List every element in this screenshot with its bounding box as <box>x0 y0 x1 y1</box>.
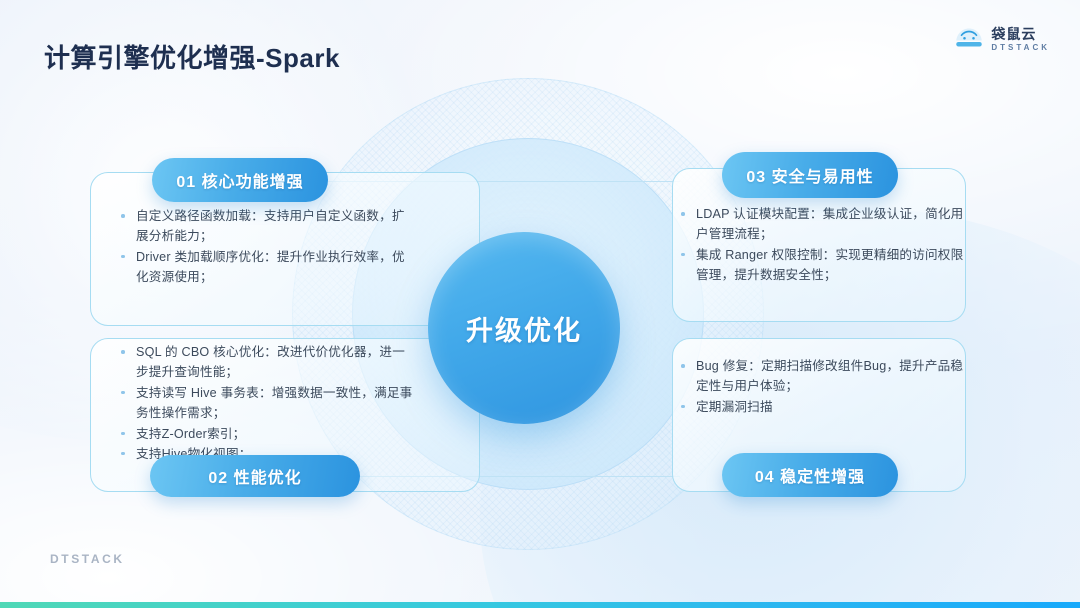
center-circle: 升级优化 <box>428 232 620 424</box>
center-circle-label: 升级优化 <box>466 309 582 348</box>
logo-text-cn: 袋鼠云 <box>991 27 1050 41</box>
list-item: LDAP 认证模块配置：集成企业级认证，简化用户管理流程； <box>676 204 966 245</box>
footer-brand: DTSTACK <box>50 552 125 566</box>
list-item: SQL 的 CBO 核心优化：改进代价优化器，进一步提升查询性能； <box>116 342 416 383</box>
list-item: Bug 修复：定期扫描修改组件Bug，提升产品稳定性与用户体验； <box>676 356 966 397</box>
pill-stability[interactable]: 04 稳定性增强 <box>722 453 898 497</box>
pill-performance[interactable]: 02 性能优化 <box>150 455 360 497</box>
brand-logo: 袋鼠云 DTSTACK <box>954 26 1050 52</box>
page-title: 计算引擎优化增强-Spark <box>44 38 340 75</box>
bottom-accent-bar <box>0 602 1080 608</box>
list-item: 支持Z-Order索引； <box>116 424 416 444</box>
pill-core-features[interactable]: 01 核心功能增强 <box>152 158 328 202</box>
kangaroo-cloud-icon <box>954 26 984 52</box>
list-item: Driver 类加载顺序优化：提升作业执行效率，优化资源使用； <box>116 247 412 288</box>
bullet-list-security: LDAP 认证模块配置：集成企业级认证，简化用户管理流程； 集成 Ranger … <box>676 204 966 286</box>
logo-text-en: DTSTACK <box>991 44 1050 52</box>
bullet-list-core-features: 自定义路径函数加载：支持用户自定义函数，扩展分析能力； Driver 类加载顺序… <box>116 206 412 288</box>
pill-security[interactable]: 03 安全与易用性 <box>722 152 898 198</box>
list-item: 支持读写 Hive 事务表：增强数据一致性，满足事务性操作需求； <box>116 383 416 424</box>
list-item: 自定义路径函数加载：支持用户自定义函数，扩展分析能力； <box>116 206 412 247</box>
list-item: 定期漏洞扫描 <box>676 397 966 417</box>
bullet-list-performance: SQL 的 CBO 核心优化：改进代价优化器，进一步提升查询性能； 支持读写 H… <box>116 342 416 464</box>
bullet-list-stability: Bug 修复：定期扫描修改组件Bug，提升产品稳定性与用户体验； 定期漏洞扫描 <box>676 356 966 417</box>
list-item: 集成 Ranger 权限控制：实现更精细的访问权限管理，提升数据安全性； <box>676 245 966 286</box>
